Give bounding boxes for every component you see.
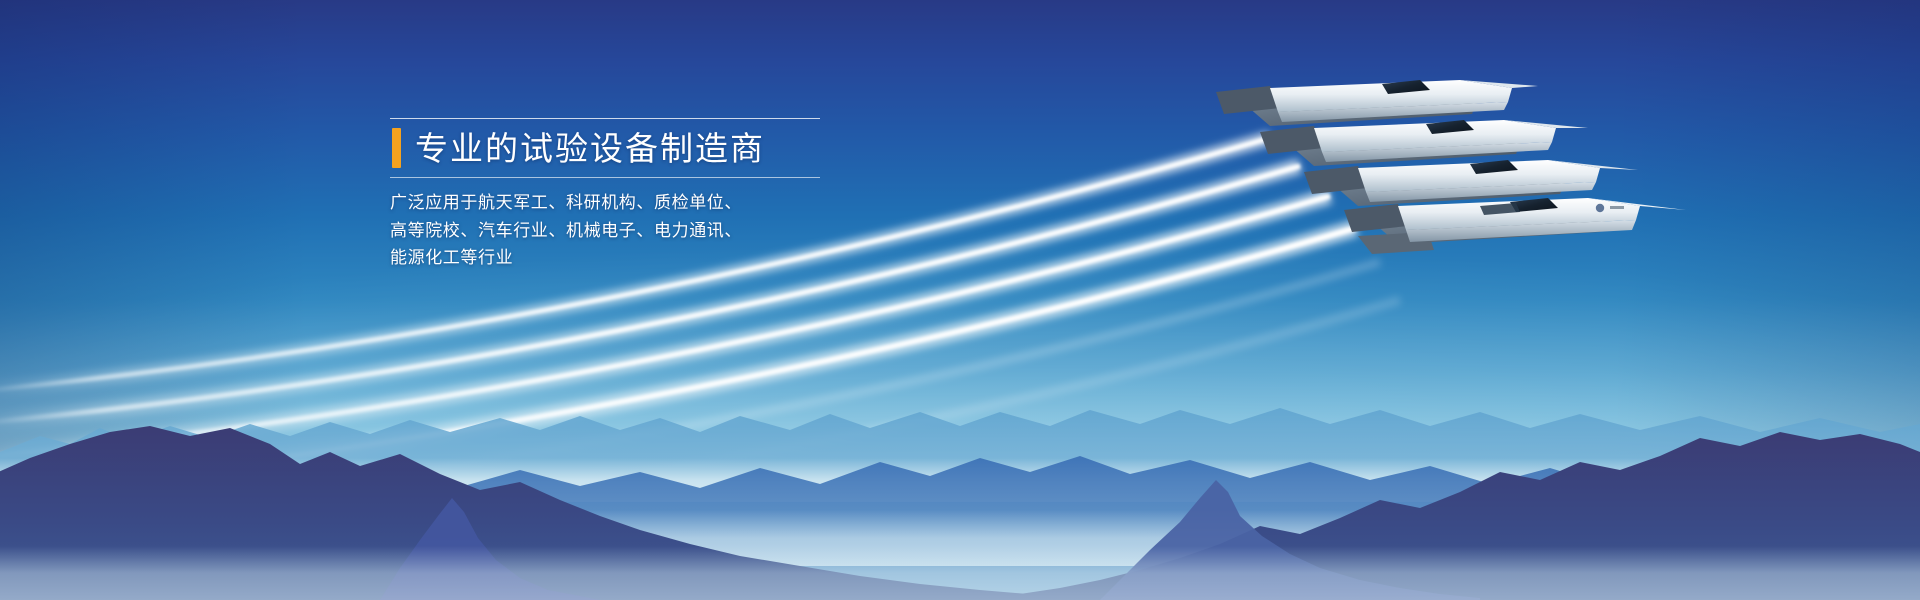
jet-formation <box>1120 30 1920 290</box>
jet-4-rear <box>1216 80 1538 126</box>
subtitle-line-1: 广泛应用于航天军工、科研机构、质检单位、 <box>390 189 820 217</box>
subtitle-line-3: 能源化工等行业 <box>390 244 820 272</box>
jet-3 <box>1260 120 1588 166</box>
jet-1-lead <box>1344 198 1686 254</box>
banner-copy: 专业的试验设备制造商 广泛应用于航天军工、科研机构、质检单位、 高等院校、汽车行… <box>390 118 820 272</box>
mist-band-near <box>0 546 1920 600</box>
subtitle-block: 广泛应用于航天军工、科研机构、质检单位、 高等院校、汽车行业、机械电子、电力通讯… <box>390 178 820 272</box>
mountain-range <box>0 340 1920 600</box>
subtitle-line-2: 高等院校、汽车行业、机械电子、电力通讯、 <box>390 217 820 245</box>
headline-row: 专业的试验设备制造商 <box>390 119 820 177</box>
accent-bar <box>392 128 401 168</box>
hero-banner: 专业的试验设备制造商 广泛应用于航天军工、科研机构、质检单位、 高等院校、汽车行… <box>0 0 1920 600</box>
page-title: 专业的试验设备制造商 <box>415 132 765 165</box>
